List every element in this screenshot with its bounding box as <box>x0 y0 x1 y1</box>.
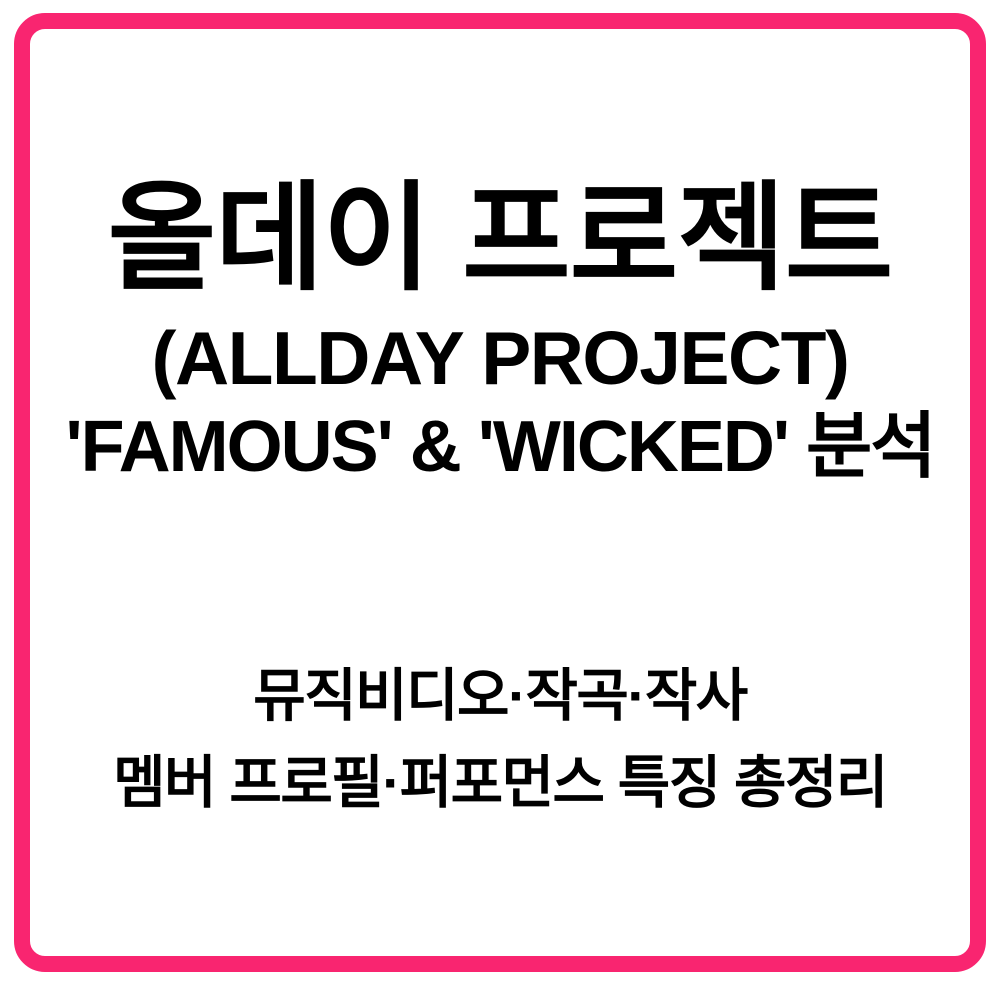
page-subtitle-songs: 'FAMOUS' & 'WICKED' 분석 <box>14 404 986 490</box>
description-line-1: 뮤직비디오·작곡·작사 <box>14 653 986 740</box>
content-area: 올데이 프로젝트 (ALLDAY PROJECT) 'FAMOUS' & 'WI… <box>14 13 986 972</box>
thumbnail-canvas: 올데이 프로젝트 (ALLDAY PROJECT) 'FAMOUS' & 'WI… <box>0 0 1000 1000</box>
description-line-2: 멤버 프로필·퍼포먼스 특징 총정리 <box>14 740 986 827</box>
description-block: 뮤직비디오·작곡·작사 멤버 프로필·퍼포먼스 특징 총정리 <box>14 653 986 826</box>
page-title-korean: 올데이 프로젝트 <box>14 171 986 308</box>
title-block: 올데이 프로젝트 (ALLDAY PROJECT) 'FAMOUS' & 'WI… <box>14 171 986 491</box>
page-title-english: (ALLDAY PROJECT) <box>14 314 986 403</box>
